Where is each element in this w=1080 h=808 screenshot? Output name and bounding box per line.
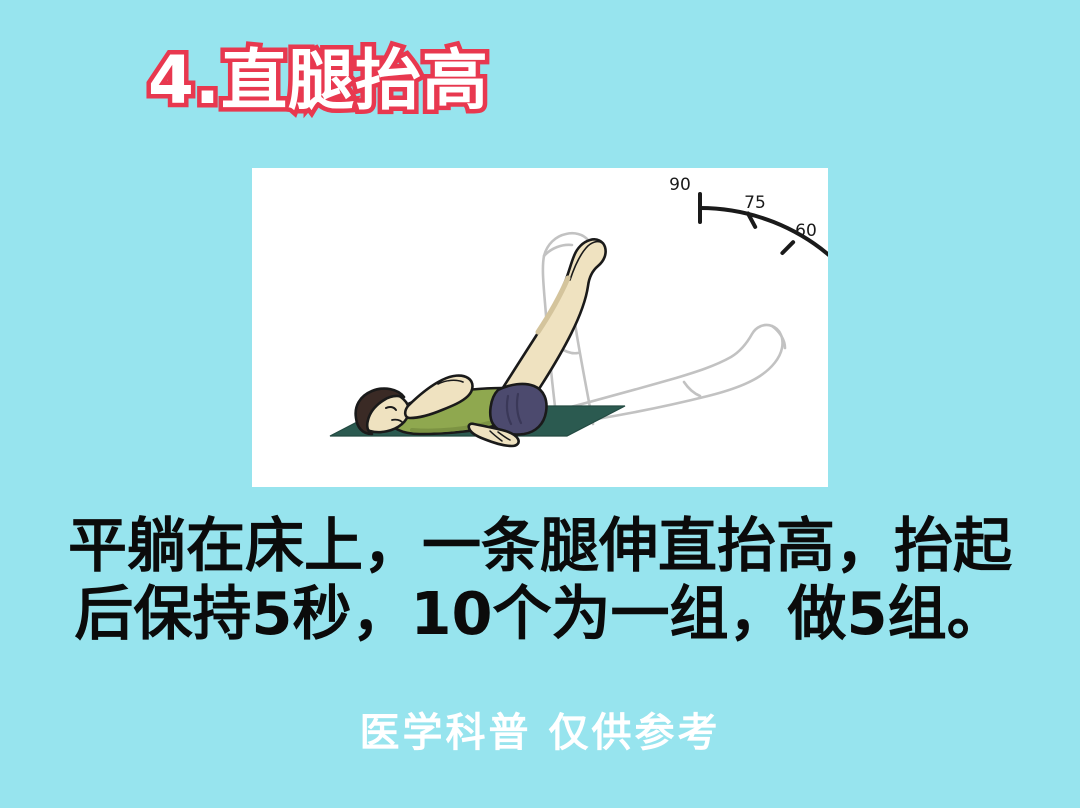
protractor-label-75: 75 — [744, 193, 766, 213]
exercise-illustration: 仰卧直腿抬高示意图 — [252, 168, 828, 487]
protractor-label-60: 60 — [795, 221, 817, 241]
instruction-line-2: 后保持5秒，10个为一组，做5组。 — [0, 580, 1080, 648]
slide-root: 4.直腿抬高 仰卧直腿抬高示意图 — [0, 0, 1080, 808]
protractor-label-90: 90 — [669, 175, 691, 195]
instruction-line-1: 平躺在床上，一条腿伸直抬高，抬起 — [0, 512, 1080, 580]
footer-disclaimer: 医学科普 仅供参考 — [0, 700, 1080, 758]
shorts — [490, 384, 546, 435]
instruction-text: 平躺在床上，一条腿伸直抬高，抬起 后保持5秒，10个为一组，做5组。 — [0, 512, 1080, 648]
page-title: 4.直腿抬高 — [148, 48, 489, 114]
illustration-panel: 仰卧直腿抬高示意图 — [252, 168, 828, 487]
